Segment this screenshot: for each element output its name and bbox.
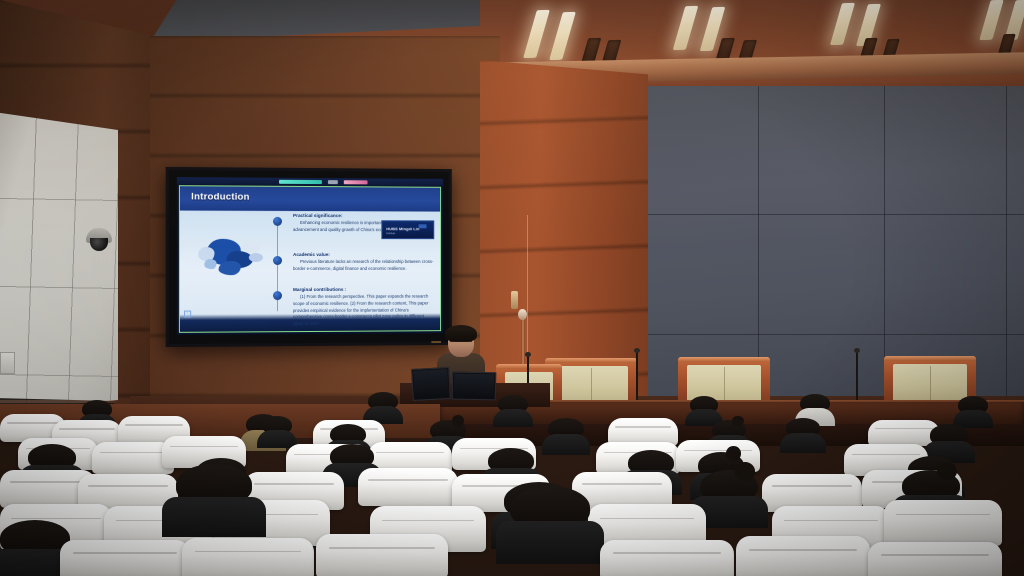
slide-note-icon: ✎	[184, 311, 191, 318]
logo-mark-icon	[419, 224, 427, 228]
taskbar-chip-pink[interactable]	[343, 180, 367, 185]
presenter-hair	[445, 325, 477, 342]
table-microphone	[636, 352, 638, 402]
slide-logo-subtitle: Institute	[386, 232, 395, 235]
laptop[interactable]	[452, 372, 496, 401]
audience-seat[interactable]	[736, 536, 870, 576]
slide-block-heading: Academic value:	[293, 252, 434, 257]
audience-seat[interactable]	[868, 542, 1002, 576]
audience-seat[interactable]	[884, 500, 1002, 546]
slide-bullet-dot	[273, 291, 282, 300]
slide-body: Practical significance: Enhancing econom…	[180, 210, 440, 319]
audience-seat[interactable]	[358, 468, 458, 506]
dome-camera-icon	[86, 228, 112, 243]
audience-person	[958, 396, 988, 426]
audience-seat[interactable]	[316, 534, 448, 576]
audience-person	[510, 486, 590, 558]
slide-block-heading: Marginal contributions :	[293, 287, 434, 292]
door-handle-icon[interactable]	[511, 291, 518, 309]
screen-display-area: Introduction	[177, 177, 443, 335]
audience-seat[interactable]	[182, 538, 314, 576]
audience-person	[176, 464, 252, 532]
audience-seat[interactable]	[60, 540, 190, 576]
laptop[interactable]	[411, 367, 451, 401]
slide-block-marginal: Marginal contributions : (1) From the re…	[293, 287, 434, 329]
audience-person	[930, 424, 968, 460]
table-microphone	[856, 352, 858, 402]
white-tile-wall-panel	[0, 112, 118, 412]
slide-title: Introduction	[191, 191, 250, 202]
presentation-slide: Introduction	[179, 185, 441, 333]
world-map-graphic	[196, 233, 269, 281]
slide-block-body: Previous literature lacks an research of…	[293, 259, 434, 273]
audience-person	[368, 392, 398, 422]
slide-bullet-dot	[273, 256, 282, 265]
slide-logo-badge: HUBS Mingdi Lin Institute	[381, 220, 434, 239]
audience-seat[interactable]	[600, 540, 734, 576]
conference-hall-photo: Introduction	[0, 0, 1024, 576]
audience-person	[786, 418, 820, 450]
presenter-glasses-icon	[450, 341, 472, 346]
slide-block-academic: Academic value: Previous literature lack…	[293, 252, 434, 273]
slide-logo-name: HUBS Mingdi Lin	[386, 226, 419, 231]
floor-stand-knob	[518, 309, 527, 320]
taskbar-chip-teal[interactable]	[279, 179, 322, 184]
slide-block-heading: Practical significance:	[293, 213, 434, 218]
audience-person	[548, 418, 584, 452]
taskbar-chip-grey[interactable]	[327, 180, 338, 185]
audience-person	[262, 416, 292, 446]
slide-block-body: (1) From the research perspective. This …	[293, 293, 434, 328]
wall-switch-plate[interactable]	[0, 352, 15, 374]
slide-bullet-dot	[273, 217, 282, 226]
audience-person	[498, 395, 528, 425]
projection-screen[interactable]: Introduction	[166, 167, 452, 347]
audience-person	[700, 470, 758, 524]
tile-grout-grid	[0, 112, 118, 412]
